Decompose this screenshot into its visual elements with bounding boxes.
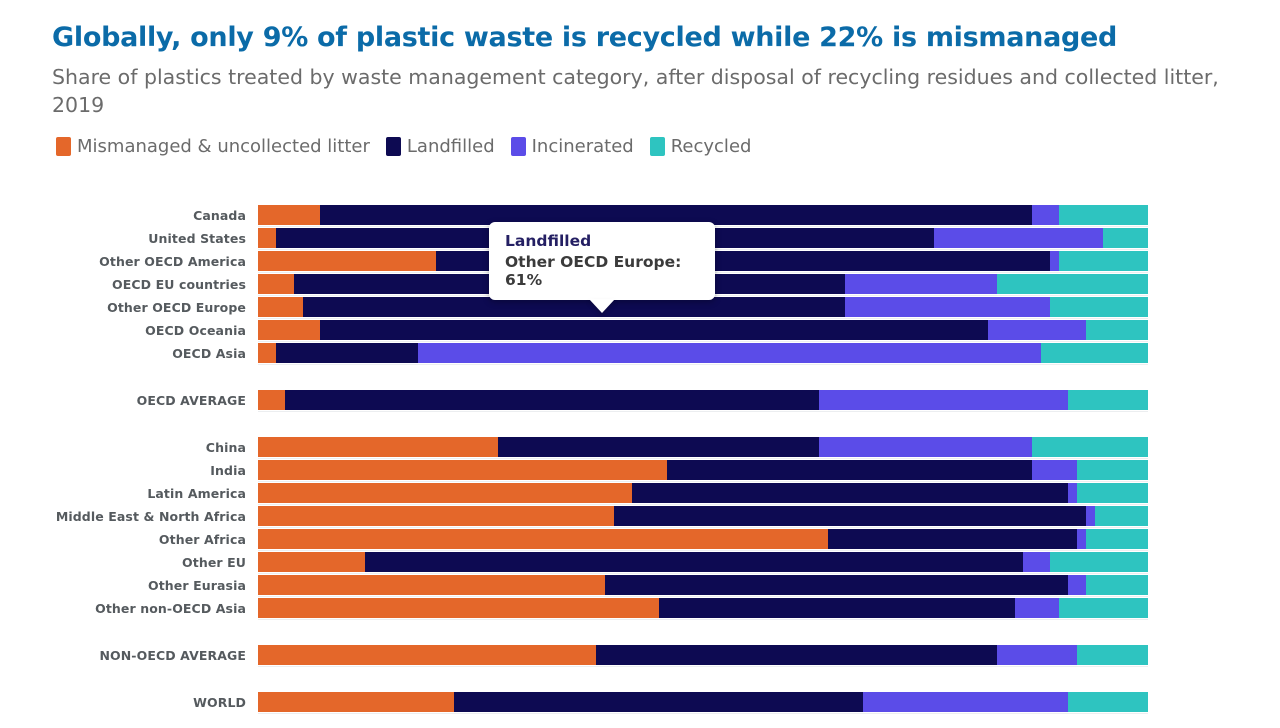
- bar-segment[interactable]: [258, 692, 454, 712]
- group-spacer: [52, 621, 1280, 645]
- stacked-bar: [258, 645, 1148, 665]
- bar-segment[interactable]: [258, 343, 276, 363]
- chart-bar-track: [258, 645, 1148, 667]
- bar-segment[interactable]: [997, 274, 1148, 294]
- stacked-bar: [258, 506, 1148, 526]
- chart-bar-track: [258, 460, 1148, 482]
- chart-row[interactable]: India: [52, 460, 1280, 482]
- bar-segment[interactable]: [1050, 297, 1148, 317]
- bar-segment[interactable]: [1050, 552, 1148, 572]
- chart-bar-track: [258, 598, 1148, 620]
- chart-bar-track: [258, 483, 1148, 505]
- bar-segment[interactable]: [258, 460, 667, 480]
- chart-row[interactable]: OECD Oceania: [52, 320, 1280, 342]
- bar-segment[interactable]: [1015, 598, 1060, 618]
- page-title: Globally, only 9% of plastic waste is re…: [52, 22, 1228, 53]
- chart-row[interactable]: NON-OECD AVERAGE: [52, 645, 1280, 667]
- bar-segment[interactable]: [819, 390, 1068, 410]
- stacked-bar: [258, 460, 1148, 480]
- stacked-bar: [258, 297, 1148, 317]
- stacked-bar: [258, 598, 1148, 618]
- bar-segment[interactable]: [845, 297, 1050, 317]
- bar-segment[interactable]: [863, 692, 1068, 712]
- chart-bar-track: [258, 343, 1148, 365]
- chart-row-label: Canada: [52, 210, 258, 223]
- bar-segment[interactable]: [258, 598, 659, 618]
- chart-bar-track: [258, 552, 1148, 574]
- chart-row[interactable]: WORLD: [52, 692, 1280, 714]
- bar-segment[interactable]: [258, 483, 632, 503]
- chart-row[interactable]: China: [52, 437, 1280, 459]
- bar-segment[interactable]: [1086, 506, 1095, 526]
- legend-swatch-icon: [650, 137, 665, 156]
- bar-segment[interactable]: [418, 343, 1041, 363]
- chart-row[interactable]: Other Africa: [52, 529, 1280, 551]
- bar-segment[interactable]: [258, 506, 614, 526]
- bar-segment[interactable]: [1050, 251, 1059, 271]
- chart-bar-track: [258, 692, 1148, 714]
- stacked-bar: [258, 390, 1148, 410]
- chart-row-label: Latin America: [52, 488, 258, 501]
- legend-item-label: Incinerated: [532, 136, 634, 157]
- bar-segment[interactable]: [1086, 320, 1148, 340]
- group-spacer: [52, 413, 1280, 437]
- bar-segment[interactable]: [845, 274, 996, 294]
- bar-segment[interactable]: [614, 506, 1086, 526]
- bar-segment[interactable]: [1068, 692, 1148, 712]
- chart-bar-track: [258, 575, 1148, 597]
- chart-row-label: WORLD: [52, 697, 258, 710]
- bar-segment[interactable]: [596, 645, 997, 665]
- chart-row-label: Other OECD America: [52, 256, 258, 269]
- bar-segment[interactable]: [1032, 460, 1077, 480]
- chart-row[interactable]: Other non-OECD Asia: [52, 598, 1280, 620]
- tooltip-arrow-icon: [589, 299, 615, 313]
- chart-row-label: OECD EU countries: [52, 279, 258, 292]
- bar-segment[interactable]: [1095, 506, 1148, 526]
- bar-segment[interactable]: [1041, 343, 1148, 363]
- chart-row-label: Other non-OECD Asia: [52, 603, 258, 616]
- tooltip-series-name: Landfilled: [505, 232, 701, 250]
- chart-row-label: OECD Oceania: [52, 325, 258, 338]
- chart-bar-track: [258, 390, 1148, 412]
- stacked-bar: [258, 692, 1148, 712]
- bar-segment[interactable]: [1023, 552, 1050, 572]
- bar-segment[interactable]: [1077, 645, 1148, 665]
- bar-segment[interactable]: [1086, 529, 1148, 549]
- chart-row-label: Other Eurasia: [52, 580, 258, 593]
- bar-segment[interactable]: [934, 228, 1103, 248]
- group-spacer: [52, 668, 1280, 692]
- stacked-bar: [258, 320, 1148, 340]
- bar-segment[interactable]: [258, 575, 605, 595]
- bar-segment[interactable]: [498, 437, 818, 457]
- bar-segment[interactable]: [258, 552, 365, 572]
- chart-bar-track: [258, 506, 1148, 528]
- bar-segment[interactable]: [1032, 205, 1059, 225]
- chart-bar-track: [258, 320, 1148, 342]
- bar-segment[interactable]: [258, 529, 828, 549]
- chart-row[interactable]: OECD AVERAGE: [52, 390, 1280, 412]
- bar-segment[interactable]: [258, 645, 596, 665]
- bar-segment[interactable]: [1086, 575, 1148, 595]
- chart-row[interactable]: Latin America: [52, 483, 1280, 505]
- bar-segment[interactable]: [828, 529, 1077, 549]
- bar-segment[interactable]: [276, 343, 418, 363]
- legend-item-label: Recycled: [671, 136, 752, 157]
- chart-row[interactable]: Other Eurasia: [52, 575, 1280, 597]
- legend-item[interactable]: Recycled: [650, 136, 752, 157]
- chart-bar-track: [258, 437, 1148, 459]
- legend-item-label: Landfilled: [407, 136, 495, 157]
- chart-row-label: United States: [52, 233, 258, 246]
- chart-row[interactable]: Other EU: [52, 552, 1280, 574]
- bar-segment[interactable]: [997, 645, 1077, 665]
- bar-segment[interactable]: [454, 692, 863, 712]
- bar-segment[interactable]: [320, 320, 988, 340]
- bar-segment[interactable]: [303, 297, 846, 317]
- bar-segment[interactable]: [1059, 598, 1148, 618]
- bar-segment[interactable]: [988, 320, 1086, 340]
- bar-segment[interactable]: [258, 320, 320, 340]
- bar-segment[interactable]: [285, 390, 819, 410]
- bar-segment[interactable]: [258, 297, 303, 317]
- chart-tooltip: Landfilled Other OECD Europe: 61%: [489, 222, 715, 300]
- tooltip-value: Other OECD Europe: 61%: [505, 253, 701, 289]
- bar-segment[interactable]: [667, 460, 1032, 480]
- bar-segment[interactable]: [659, 598, 1015, 618]
- chart-row-label: OECD AVERAGE: [52, 395, 258, 408]
- bar-segment[interactable]: [258, 437, 498, 457]
- chart-subtitle: Share of plastics treated by waste manag…: [52, 63, 1227, 120]
- bar-segment[interactable]: [1032, 437, 1148, 457]
- stacked-bar: [258, 483, 1148, 503]
- legend-item[interactable]: Incinerated: [511, 136, 634, 157]
- chart-row-label: Other EU: [52, 557, 258, 570]
- stacked-bar: [258, 552, 1148, 572]
- bar-segment[interactable]: [819, 437, 1033, 457]
- group-spacer: [52, 366, 1280, 390]
- stacked-bar: [258, 437, 1148, 457]
- legend-item[interactable]: Landfilled: [386, 136, 495, 157]
- chart-legend: Mismanaged & uncollected litterLandfille…: [56, 136, 1228, 157]
- bar-segment[interactable]: [632, 483, 1068, 503]
- bar-segment[interactable]: [1103, 228, 1148, 248]
- legend-swatch-icon: [386, 137, 401, 156]
- bar-segment[interactable]: [1068, 575, 1086, 595]
- chart-row[interactable]: Middle East & North Africa: [52, 506, 1280, 528]
- chart-row-label: OECD Asia: [52, 348, 258, 361]
- chart-row-label: Other Africa: [52, 534, 258, 547]
- chart-row[interactable]: Other OECD Europe: [52, 297, 1280, 319]
- legend-item[interactable]: Mismanaged & uncollected litter: [56, 136, 370, 157]
- bar-segment[interactable]: [1068, 483, 1077, 503]
- chart-row-label: Other OECD Europe: [52, 302, 258, 315]
- stacked-bar: [258, 575, 1148, 595]
- bar-segment[interactable]: [1077, 483, 1148, 503]
- bar-segment[interactable]: [258, 251, 436, 271]
- bar-segment[interactable]: [1068, 390, 1148, 410]
- legend-swatch-icon: [56, 137, 71, 156]
- chart-row[interactable]: OECD Asia: [52, 343, 1280, 365]
- bar-segment[interactable]: [1077, 460, 1148, 480]
- chart-bar-track: [258, 529, 1148, 551]
- legend-swatch-icon: [511, 137, 526, 156]
- bar-segment[interactable]: [605, 575, 1068, 595]
- bar-segment[interactable]: [1059, 251, 1148, 271]
- bar-segment[interactable]: [365, 552, 1024, 572]
- legend-item-label: Mismanaged & uncollected litter: [77, 136, 370, 157]
- bar-segment[interactable]: [1059, 205, 1148, 225]
- chart-row-label: NON-OECD AVERAGE: [52, 650, 258, 663]
- bar-segment[interactable]: [258, 274, 294, 294]
- stacked-bar: [258, 343, 1148, 363]
- chart-row-label: India: [52, 465, 258, 478]
- chart-row-label: China: [52, 442, 258, 455]
- bar-segment[interactable]: [258, 228, 276, 248]
- chart-bar-track: [258, 297, 1148, 319]
- bar-segment[interactable]: [258, 205, 320, 225]
- stacked-bar: [258, 529, 1148, 549]
- chart-row-label: Middle East & North Africa: [52, 511, 258, 524]
- bar-segment[interactable]: [258, 390, 285, 410]
- bar-segment[interactable]: [1077, 529, 1086, 549]
